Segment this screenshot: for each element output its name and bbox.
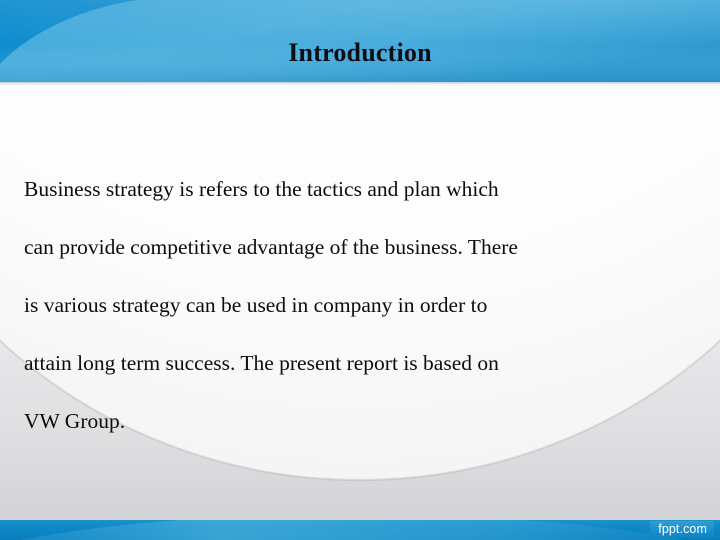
body-line: can provide competitive advantage of the… — [24, 218, 684, 276]
body-line: is various strategy can be used in compa… — [24, 276, 684, 334]
fppt-watermark: fppt.com — [650, 521, 714, 538]
body-line: VW Group. — [24, 392, 684, 450]
body-line: Business strategy is refers to the tacti… — [24, 160, 684, 218]
presentation-slide: Introduction Business strategy is refers… — [0, 0, 720, 540]
slide-body-text: Business strategy is refers to the tacti… — [24, 160, 684, 450]
slide-footer-band — [0, 520, 720, 540]
page-title: Introduction — [0, 36, 720, 70]
body-line: attain long term success. The present re… — [24, 334, 684, 392]
slide-header-band: Introduction — [0, 0, 720, 82]
